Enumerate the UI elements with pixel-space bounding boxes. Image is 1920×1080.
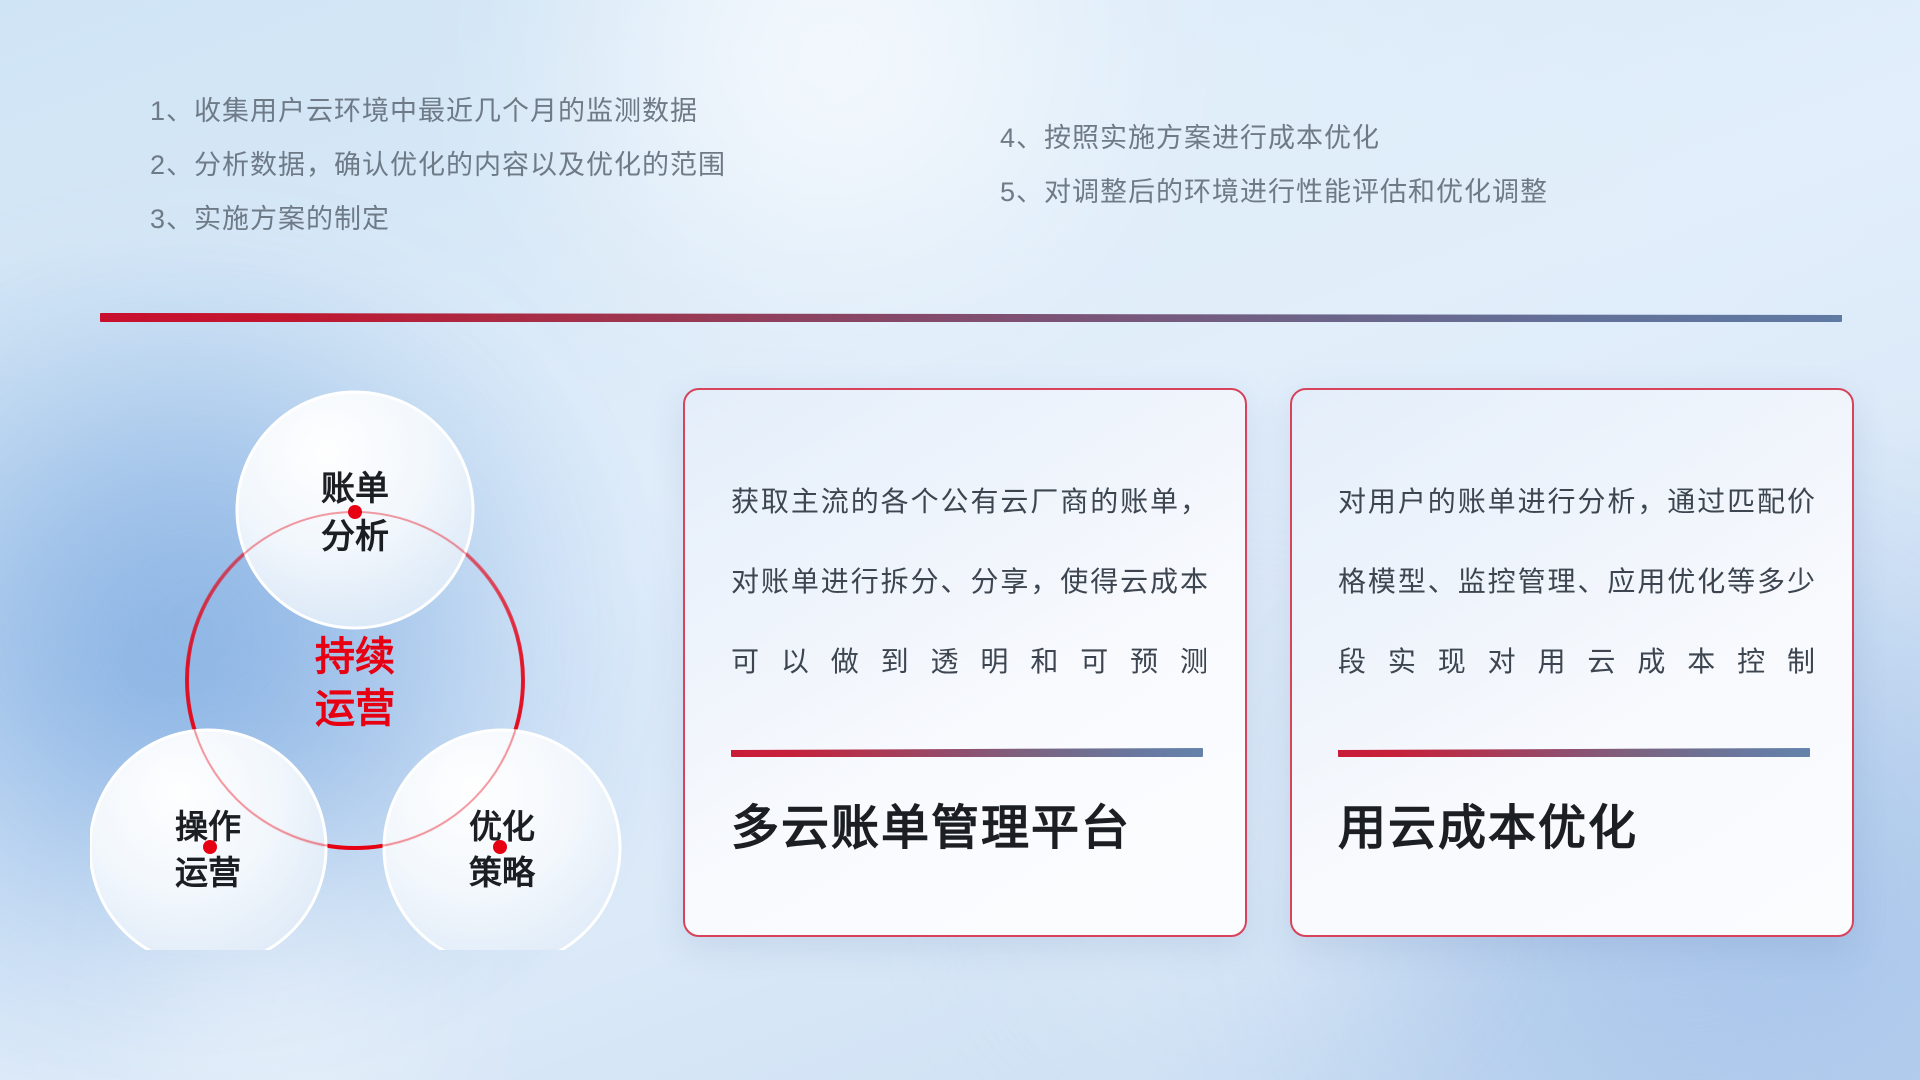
card-2-divider xyxy=(1338,748,1810,757)
steps-right-column: 4、按照实施方案进行成本优化 5、对调整后的环境进行性能评估和优化调整 xyxy=(1000,125,1548,233)
card-1-title: 多云账单管理平台 xyxy=(731,788,1131,858)
venn-node-left-label-line2: 运营 xyxy=(175,854,241,891)
card-2-title: 用云成本优化 xyxy=(1338,788,1638,858)
venn-junction-dot-right xyxy=(493,840,507,854)
step-item-1: 1、收集用户云环境中最近几个月的监测数据 xyxy=(150,98,726,125)
card-multi-cloud-billing-platform[interactable]: 获取主流的各个公有云厂商的账单，对账单进行拆分、分享，使得云成本可以做到透明和可… xyxy=(683,388,1247,937)
venn-diagram: 账单 分析 操作 运营 优化 策略 持续 运营 xyxy=(90,350,650,950)
venn-node-right-label-line1: 优化 xyxy=(469,808,535,845)
card-1-body-text: 获取主流的各个公有云厂商的账单，对账单进行拆分、分享，使得云成本可以做到透明和可… xyxy=(731,462,1209,702)
venn-node-top-label-line2: 分析 xyxy=(321,518,389,556)
venn-center-label-line2: 运营 xyxy=(315,687,395,731)
section-divider-rule xyxy=(100,313,1842,322)
card-cloud-cost-optimization[interactable]: 对用户的账单进行分析，通过匹配价格模型、监控管理、应用优化等多少段实现对用云成本… xyxy=(1290,388,1854,937)
slide-canvas: 1、收集用户云环境中最近几个月的监测数据 2、分析数据，确认优化的内容以及优化的… xyxy=(0,0,1920,1080)
venn-junction-dot-left xyxy=(203,840,217,854)
venn-junction-dot-top xyxy=(348,505,362,519)
step-item-2: 2、分析数据，确认优化的内容以及优化的范围 xyxy=(150,152,726,179)
step-item-3: 3、实施方案的制定 xyxy=(150,206,726,233)
venn-node-right-label-line2: 策略 xyxy=(469,854,536,891)
steps-left-column: 1、收集用户云环境中最近几个月的监测数据 2、分析数据，确认优化的内容以及优化的… xyxy=(150,98,726,260)
venn-node-left-label-line1: 操作 xyxy=(175,808,241,845)
venn-center-label-line1: 持续 xyxy=(315,635,395,679)
venn-node-top-label-line1: 账单 xyxy=(321,470,389,508)
step-item-5: 5、对调整后的环境进行性能评估和优化调整 xyxy=(1000,179,1548,206)
step-item-4: 4、按照实施方案进行成本优化 xyxy=(1000,125,1548,152)
card-1-divider xyxy=(731,748,1203,757)
card-2-body-text: 对用户的账单进行分析，通过匹配价格模型、监控管理、应用优化等多少段实现对用云成本… xyxy=(1338,462,1816,702)
